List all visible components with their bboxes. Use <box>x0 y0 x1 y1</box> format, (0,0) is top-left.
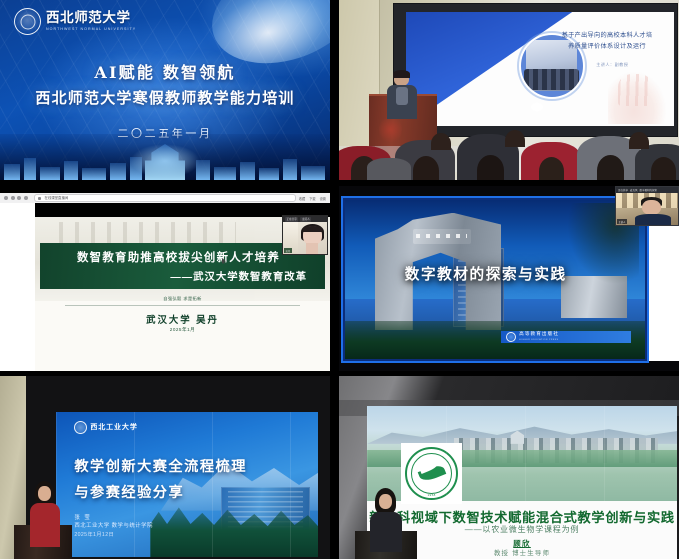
webcam-label-mic: 麦克风 <box>630 188 638 192</box>
displayed-slide: 西北工业大学 教学创新大赛全流程梳理 与参赛经验分享 张 莹 西北工业大学 数学… <box>56 412 318 557</box>
speaker-person <box>28 481 62 559</box>
hand-graphic <box>608 72 666 124</box>
slide-presenter-block: 张 莹 西北工业大学 数学与统计学院 2025年1月12日 <box>74 514 153 540</box>
slide-title-line-2: ——武汉大学数智教育改革 <box>40 268 317 283</box>
webcam-label-sharing: 正在共享 <box>285 217 298 222</box>
screen-light-reflection <box>531 103 543 111</box>
university-emblem: 1958 <box>401 443 462 504</box>
projected-slide: 基于产出导向的高校本科人才培 养质量评价体系设计及运行 主讲人：副教授 <box>406 12 674 126</box>
webcam-label-host: 主持人 <box>300 217 311 222</box>
shared-slide: 数字教材的探索与实践 高等教育出版社 HIGHER EDUCATION PRES… <box>341 196 649 363</box>
university-seal-icon <box>14 8 41 35</box>
slide-title-line-1: 教学创新大赛全流程梳理 <box>74 456 247 476</box>
slide-title-line-2: 养质量评价体系设计及运行 <box>551 42 664 53</box>
slide-title-line-1: 数智教育助推高校拔尖创新人才培养 <box>40 249 317 265</box>
panel-lecture-hall-outcome-based[interactable]: 基于产出导向的高校本科人才培 养质量评价体系设计及运行 主讲人：副教授 <box>339 0 679 180</box>
slide-affiliation: 西北工业大学 数学与统计学院 <box>74 522 153 531</box>
publisher-name-cn: 高等教育出版社 <box>519 333 559 338</box>
panel-nwpu-teaching-contest[interactable]: 西北工业大学 教学创新大赛全流程梳理 与参赛经验分享 张 莹 西北工业大学 数学… <box>0 376 330 559</box>
campus-skyline-silhouette <box>0 134 330 180</box>
webcam-label-topic: 数字教材的探索 <box>640 188 658 192</box>
university-name-cn: 西北工业大学 <box>90 422 137 432</box>
emblem-year: 1958 <box>427 493 435 497</box>
webcam-name-tag: 吴丹 <box>284 248 292 253</box>
reload-icon[interactable] <box>17 196 21 200</box>
slide-author-line: 主讲人：副教授 <box>572 62 652 68</box>
webcam-tile[interactable]: 正在共享 主持人 吴丹 <box>282 215 328 255</box>
home-icon[interactable] <box>24 196 28 200</box>
settings-button[interactable]: 设置 <box>320 196 326 201</box>
screenshot-gallery: 西北师范大学 NORTHWEST NORMAL UNIVERSITY AI赋能 … <box>0 0 679 559</box>
slide-date: 2025年1月12日 <box>74 531 153 539</box>
university-seal-icon <box>74 421 87 434</box>
university-name-en: NORTHWEST NORMAL UNIVERSITY <box>46 28 136 32</box>
university-name-cn: 西北师范大学 <box>46 12 136 26</box>
bookmark-button[interactable]: 收藏 <box>299 196 305 201</box>
university-logo: 西北师范大学 NORTHWEST NORMAL UNIVERSITY <box>14 8 136 35</box>
slide-title-line-1: AI赋能 数智领航 <box>0 59 330 83</box>
panel-digital-textbook-slide[interactable]: 数字教材的探索与实践 高等教育出版社 HIGHER EDUCATION PRES… <box>339 186 679 371</box>
publisher-name-en: HIGHER EDUCATION PRESS <box>519 339 559 341</box>
browser-toolbar-right[interactable]: 收藏 下载 设置 <box>299 196 326 201</box>
slide-divider <box>65 305 300 306</box>
download-button[interactable]: 下载 <box>309 196 315 201</box>
browser-viewport: 数智教育助推高校拔尖创新人才培养 ——武汉大学数智教育改革 自强弘毅 求是拓新 … <box>0 203 330 371</box>
panel-conference-title-slide[interactable]: 西北师范大学 NORTHWEST NORMAL UNIVERSITY AI赋能 … <box>0 0 330 180</box>
video-wall-screen: 西北工业大学 教学创新大赛全流程梳理 与参赛经验分享 张 莹 西北工业大学 数学… <box>56 412 318 557</box>
university-logo: 西北工业大学 <box>74 421 137 434</box>
slide-motto: 自强弘毅 求是拓新 <box>35 296 330 302</box>
panel-agri-teaching-innovation[interactable]: 1958 新农科视域下数智技术赋能混合式教学创新与实践 ——以农业微生物学课程为… <box>339 376 679 559</box>
publisher-bar: 高等教育出版社 HIGHER EDUCATION PRESS <box>501 331 630 343</box>
slide-title: 数字教材的探索与实践 <box>341 263 631 284</box>
back-icon[interactable] <box>4 196 8 200</box>
slide-title-line-1: 基于产出导向的高校本科人才培 <box>551 31 664 42</box>
browser-nav-buttons[interactable] <box>4 196 28 200</box>
address-bar-value: 在线课堂直播间 <box>45 195 69 202</box>
gate-inscription <box>413 229 471 244</box>
slide-title-line-2: 西北师范大学寒假教师教学能力培训 <box>0 87 330 108</box>
slide-title-line-2: 与参赛经验分享 <box>74 482 184 502</box>
slide-presenter: 张 莹 <box>74 514 153 523</box>
audience-area <box>339 118 679 180</box>
slide-presenter: 武汉大学 吴丹 <box>35 312 330 326</box>
slide-title: 基于产出导向的高校本科人才培 养质量评价体系设计及运行 <box>551 31 664 53</box>
webcam-label-sharing: 正在共享 <box>618 188 628 192</box>
publisher-seal-icon <box>506 332 516 342</box>
speaker-person <box>387 72 417 118</box>
panel-browser-whu-slide[interactable]: 在线课堂直播间 收藏 下载 设置 数智教育助推高校拔尖创新人才培养 ——武汉大学… <box>0 193 330 371</box>
webcam-video-feed: 主讲人 <box>616 193 678 225</box>
slide-date: 2025年1月 <box>35 327 330 333</box>
webcam-name-tag: 主讲人 <box>617 219 627 224</box>
forward-icon[interactable] <box>11 196 15 200</box>
address-bar[interactable]: 在线课堂直播间 <box>34 194 296 202</box>
webcam-tile[interactable]: 正在共享 麦克风 数字教材的探索 主讲人 <box>615 186 679 226</box>
webcam-video-feed: 吴丹 <box>283 222 327 254</box>
speaker-person <box>369 488 403 559</box>
